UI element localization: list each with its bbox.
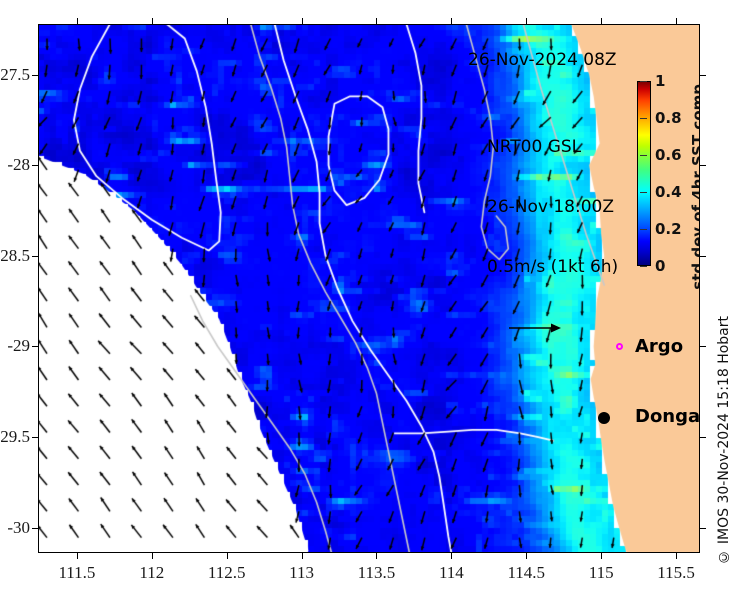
colorbar-tick [640, 229, 647, 230]
y-tick [32, 528, 38, 529]
vector-legend-block: NRT00 GSL 26-Nov 18:00Z 0.5m/s (1kt 6h) [487, 97, 618, 377]
x-tick-label: 114 [439, 563, 464, 583]
x-tick-top [676, 18, 677, 24]
copyright-label: © IMOS 30-Nov-2024 15:18 Hobart [716, 316, 732, 565]
y-tick [32, 437, 38, 438]
y-tick-right [700, 437, 706, 438]
colorbar [637, 81, 651, 266]
x-tick-top [302, 18, 303, 24]
argo-legend-label: Argo [635, 336, 683, 357]
y-tick-label: -28.5 [0, 246, 30, 266]
x-tick [601, 553, 602, 559]
x-tick-top [376, 18, 377, 24]
x-tick [227, 553, 228, 559]
dongara-marker-icon [598, 412, 610, 424]
x-tick-top [451, 18, 452, 24]
colorbar-tick [640, 118, 647, 119]
x-tick-top [77, 18, 78, 24]
map-plot-area[interactable]: 26-Nov-2024 08Z NRT00 GSL 26-Nov 18:00Z … [38, 24, 700, 553]
y-tick-label: -30 [0, 518, 30, 538]
y-tick-label: -28 [0, 155, 30, 175]
x-tick-top [227, 18, 228, 24]
colorbar-gradient [637, 81, 651, 266]
vector-scale-arrow-icon [507, 319, 567, 337]
bathymetry-legend: 200m 1000m [650, 514, 700, 553]
colorbar-tick-label: 0.8 [655, 109, 682, 127]
x-tick [526, 553, 527, 559]
x-tick-label: 112.5 [208, 563, 246, 583]
y-tick-right [700, 75, 706, 76]
argo-marker-icon [616, 343, 623, 350]
y-tick [32, 75, 38, 76]
figure-canvas: 26-Nov-2024 08Z NRT00 GSL 26-Nov 18:00Z … [0, 0, 740, 592]
x-tick-label: 115 [589, 563, 614, 583]
colorbar-tick [640, 81, 647, 82]
x-tick-label: 115.5 [657, 563, 695, 583]
colorbar-tick [640, 192, 647, 193]
x-tick-label: 111.5 [58, 563, 95, 583]
colorbar-title: std dev of 4hr SST comp [689, 84, 700, 290]
dongara-place-label: Dongara [635, 406, 700, 427]
y-tick [32, 165, 38, 166]
title-date-label: 26-Nov-2024 08Z [468, 50, 617, 70]
x-tick [451, 553, 452, 559]
y-tick [32, 346, 38, 347]
x-tick [376, 553, 377, 559]
x-tick [676, 553, 677, 559]
colorbar-tick-label: 1 [655, 72, 665, 90]
colorbar-tick-label: 0.6 [655, 146, 682, 164]
y-tick-label: -29 [0, 336, 30, 356]
x-tick-label: 112 [139, 563, 164, 583]
x-tick-top [152, 18, 153, 24]
y-tick-label: -27.5 [0, 65, 30, 85]
x-tick [302, 553, 303, 559]
vector-legend-time: 26-Nov 18:00Z [487, 197, 618, 217]
colorbar-tick-label: 0.4 [655, 183, 682, 201]
x-tick [77, 553, 78, 559]
colorbar-tick-label: 0 [655, 257, 665, 275]
x-tick-label: 113 [289, 563, 314, 583]
colorbar-tick [640, 155, 647, 156]
colorbar-tick-label: 0.2 [655, 220, 682, 238]
x-tick-label: 113.5 [358, 563, 396, 583]
vector-legend-scale: 0.5m/s (1kt 6h) [487, 257, 618, 277]
y-tick-label: -29.5 [0, 427, 30, 447]
y-tick-right [700, 528, 706, 529]
y-tick-right [700, 346, 706, 347]
x-tick-label: 114.5 [507, 563, 545, 583]
y-tick [32, 256, 38, 257]
x-tick [152, 553, 153, 559]
x-tick-top [601, 18, 602, 24]
x-tick-top [526, 18, 527, 24]
vector-legend-source: NRT00 GSL [487, 137, 618, 157]
colorbar-tick [640, 266, 647, 267]
y-tick-right [700, 256, 706, 257]
y-tick-right [700, 165, 706, 166]
